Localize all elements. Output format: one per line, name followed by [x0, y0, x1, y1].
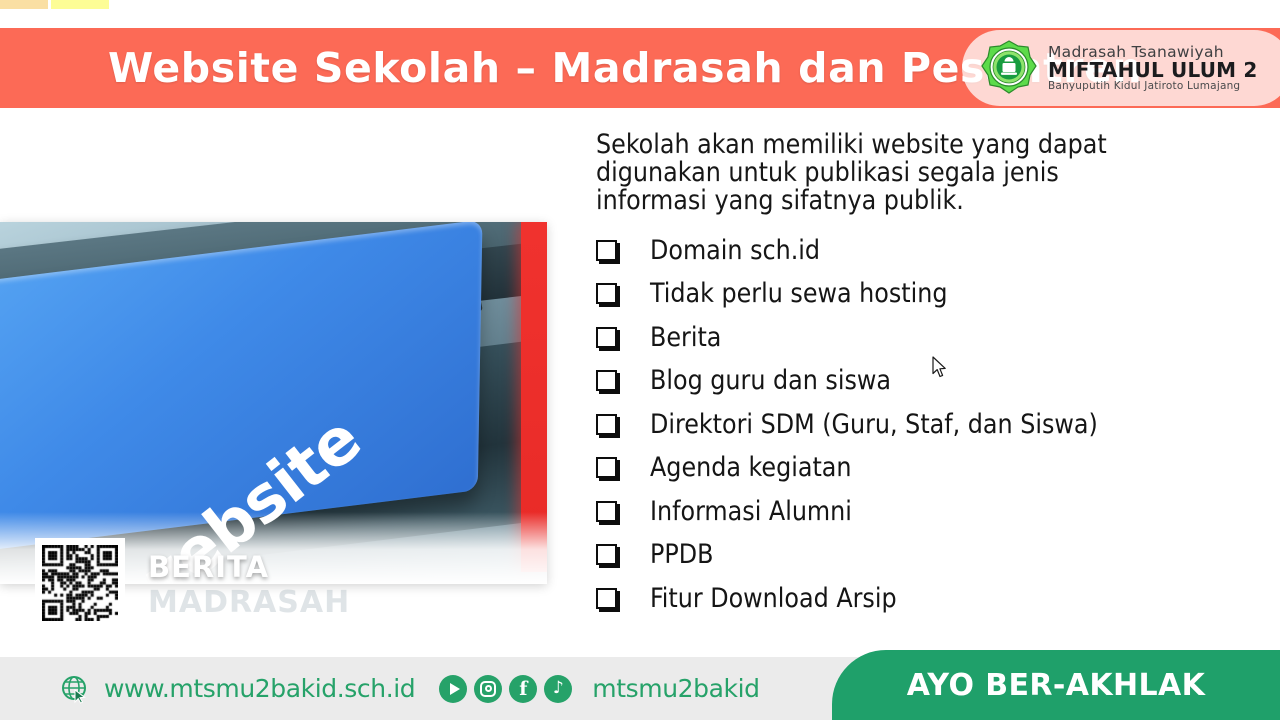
feature-item[interactable]: Agenda kegiatan	[596, 447, 1242, 491]
checkbox-icon[interactable]	[596, 544, 624, 566]
website-url[interactable]: www.mtsmu2bakid.sch.id	[104, 674, 415, 703]
slogan-banner: AYO BER-AKHLAK	[832, 650, 1280, 720]
feature-item[interactable]: Informasi Alumni	[596, 490, 1242, 534]
checkbox-icon[interactable]	[596, 457, 624, 479]
globe-cursor-icon	[60, 674, 90, 704]
social-icon-row: f ♪	[439, 675, 572, 703]
feature-item[interactable]: Berita	[596, 316, 1242, 360]
instagram-icon[interactable]	[474, 675, 502, 703]
feature-item[interactable]: Domain sch.id	[596, 229, 1242, 273]
feature-label: Informasi Alumni	[650, 499, 852, 526]
mouse-pointer	[932, 356, 948, 380]
intro-paragraph: Sekolah akan memiliki website yang dapat…	[596, 131, 1242, 215]
photo-caption: BERITA	[148, 550, 269, 584]
checkbox-icon[interactable]	[596, 588, 624, 610]
feature-label: Domain sch.id	[650, 238, 820, 265]
top-strip-peach	[0, 0, 48, 9]
feature-label: Blog guru dan siswa	[650, 368, 891, 395]
youtube-icon[interactable]	[439, 675, 467, 703]
checkbox-icon[interactable]	[596, 327, 624, 349]
qr-code-canvas	[42, 545, 118, 621]
feature-item[interactable]: PPDB	[596, 534, 1242, 578]
checkbox-icon[interactable]	[596, 501, 624, 523]
tiktok-icon[interactable]: ♪	[544, 675, 572, 703]
feature-label: PPDB	[650, 542, 713, 569]
qr-code[interactable]	[35, 538, 125, 628]
checkbox-icon[interactable]	[596, 370, 624, 392]
school-logo-badge: Madrasah Tsanawiyah MIFTAHUL ULUM 2 Bany…	[962, 30, 1280, 106]
checkbox-icon[interactable]	[596, 283, 624, 305]
school-name-line2: MIFTAHUL ULUM 2	[1048, 60, 1258, 81]
feature-item[interactable]: Blog guru dan siswa	[596, 360, 1242, 404]
intro-line-3: informasi yang sifatnya publik.	[596, 187, 1242, 215]
checkbox-icon[interactable]	[596, 414, 624, 436]
feature-label: Berita	[650, 325, 721, 352]
school-emblem-icon	[980, 39, 1038, 97]
feature-label: Direktori SDM (Guru, Staf, dan Siswa)	[650, 412, 1098, 439]
school-logo-text: Madrasah Tsanawiyah MIFTAHUL ULUM 2 Bany…	[1048, 44, 1258, 93]
feature-list: Domain sch.idTidak perlu sewa hostingBer…	[596, 229, 1242, 621]
school-address: Banyuputih Kidul Jatiroto Lumajang	[1048, 81, 1258, 92]
photo-caption-shadow: MADRASAH	[148, 585, 350, 620]
feature-label: Agenda kegiatan	[650, 455, 852, 482]
keyboard-photo: website Telkom	[0, 222, 547, 584]
top-strip-yellow	[51, 0, 109, 9]
slogan-text: AYO BER-AKHLAK	[907, 668, 1206, 703]
checkbox-icon[interactable]	[596, 240, 624, 262]
facebook-icon[interactable]: f	[509, 675, 537, 703]
social-handle[interactable]: mtsmu2bakid	[592, 674, 759, 703]
intro-line-2: digunakan untuk publikasi segala jenis	[596, 159, 1242, 187]
feature-item[interactable]: Tidak perlu sewa hosting	[596, 273, 1242, 317]
feature-label: Tidak perlu sewa hosting	[650, 281, 948, 308]
feature-item[interactable]: Direktori SDM (Guru, Staf, dan Siswa)	[596, 403, 1242, 447]
top-color-strips	[0, 0, 140, 9]
intro-line-1: Sekolah akan memiliki website yang dapat	[596, 131, 1242, 159]
feature-label: Fitur Download Arsip	[650, 586, 897, 613]
content-column: Sekolah akan memiliki website yang dapat…	[596, 131, 1242, 621]
feature-item[interactable]: Fitur Download Arsip	[596, 577, 1242, 621]
